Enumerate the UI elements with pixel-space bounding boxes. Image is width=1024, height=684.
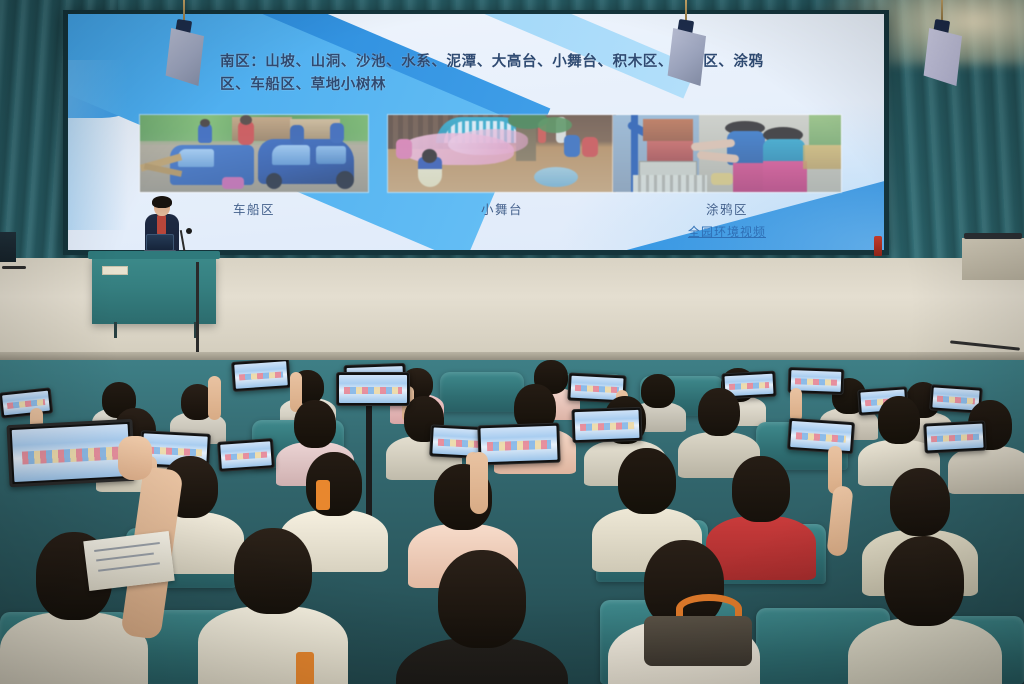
stage-side-equipment (962, 238, 1024, 280)
raised-arm (790, 388, 802, 422)
person-head (234, 528, 312, 614)
slide-photo-caption-2: 小舞台 (388, 199, 616, 218)
slide-left-wash (68, 60, 128, 230)
smartphone-recording[interactable] (0, 387, 53, 418)
person-head (438, 550, 526, 648)
table-leg (114, 322, 117, 338)
person-head (884, 536, 964, 626)
laptop-screen (146, 234, 174, 251)
floor-cable (2, 266, 26, 269)
smartphone-recording[interactable] (231, 360, 291, 392)
person-shoulders (198, 606, 348, 684)
audience-member (608, 448, 686, 554)
person-head (878, 396, 920, 444)
banner-flag (164, 28, 204, 86)
phone-screen (2, 391, 50, 416)
microphone-head (186, 228, 192, 234)
person-head (294, 400, 336, 448)
smartphone-recording[interactable] (571, 407, 642, 443)
smartphone-recording-foreground[interactable] (6, 419, 135, 488)
slide-photo-graffiti-area (613, 115, 841, 192)
phone-screen (234, 361, 288, 389)
person-head (890, 468, 950, 536)
person-head (698, 388, 740, 436)
banner-flag (666, 28, 706, 86)
camera-screen (339, 375, 407, 403)
slide-photo-caption-3: 涂鸦区 (613, 199, 841, 218)
audience-area (0, 360, 1024, 684)
phone-screen (480, 426, 557, 463)
presenter-hair (152, 196, 172, 208)
smartphone-recording[interactable] (477, 423, 560, 466)
hanging-banner-left (162, 0, 208, 90)
camera-on-tripod[interactable] (336, 372, 410, 406)
person-head (618, 448, 676, 514)
audience-member (222, 528, 324, 668)
audience-member (872, 536, 976, 680)
smartphone-recording[interactable] (923, 420, 986, 453)
hanging-banner-right (920, 0, 966, 90)
presenter-scarf (157, 214, 166, 236)
stage-cable (196, 262, 199, 358)
banner-flag (922, 28, 962, 86)
hanging-banner-center (664, 0, 710, 90)
slide-photo-vehicle-area (140, 115, 368, 192)
hand (118, 436, 152, 480)
auditorium-scene: 南区：山坡、山洞、沙池、水系、泥潭、大高台、小舞台、积木区、综合区、涂鸦区、车船… (0, 0, 1024, 684)
person-head (306, 452, 362, 516)
slide-photo-stage-area (388, 115, 616, 192)
stage-speaker-left (0, 232, 16, 262)
handbag (644, 616, 752, 666)
orange-item (296, 652, 314, 684)
phone-screen (12, 424, 131, 482)
orange-item (316, 480, 330, 510)
fire-extinguisher (874, 236, 882, 256)
raised-arm (208, 376, 221, 420)
raised-arm (470, 452, 488, 514)
audience-member (424, 550, 540, 684)
phone-screen (926, 424, 983, 451)
phone-screen (575, 410, 640, 440)
phone-screen (790, 421, 852, 451)
slide-video-link[interactable]: 全园环境视频 (613, 223, 841, 240)
smartphone-recording[interactable] (787, 418, 855, 455)
name-card (102, 266, 128, 275)
equipment-top-panel (964, 233, 1022, 239)
person-head (732, 456, 790, 522)
audience-member (870, 396, 928, 476)
person-shoulders (848, 618, 1002, 684)
table-top-edge (88, 251, 220, 259)
